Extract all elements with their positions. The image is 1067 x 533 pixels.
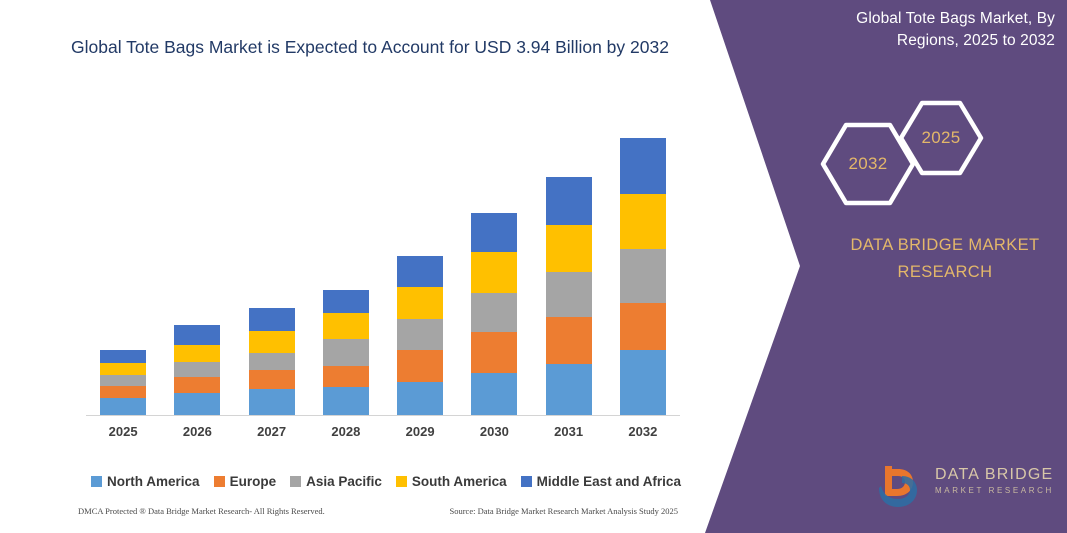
bar-segment [323,387,369,415]
x-axis-label-2027: 2027 [249,424,295,444]
infographic-root: Global Tote Bags Market is Expected to A… [0,0,1067,533]
bar-segment [471,373,517,415]
bar-segment [471,293,517,332]
legend-swatch-icon [290,476,301,487]
bar-segment [546,177,592,225]
x-axis-label-2029: 2029 [397,424,443,444]
logo-line-1: DATA BRIDGE [935,466,1054,484]
legend-swatch-icon [91,476,102,487]
data-bridge-logo: DATA BRIDGE MARKET RESEARCH [875,460,1055,512]
hexagon-group: 2032 2025 [808,100,1008,210]
legend-label: North America [107,474,200,489]
x-axis-line [86,415,680,416]
stacked-bar-group [86,120,680,415]
legend-item[interactable]: Europe [214,474,277,489]
x-axis-label-2031: 2031 [546,424,592,444]
bar-segment [100,398,146,415]
logo-line-2: MARKET RESEARCH [935,484,1054,498]
bar-segment [397,256,443,288]
bar-column [397,120,443,415]
x-axis-label-2030: 2030 [471,424,517,444]
bar-segment [471,332,517,373]
legend-item[interactable]: Asia Pacific [290,474,382,489]
footer: DMCA Protected ® Data Bridge Market Rese… [78,506,678,524]
bar-column [323,120,369,415]
hexagon-2025: 2025 [898,100,984,176]
bar-column [174,120,220,415]
right-purple-panel: Global Tote Bags Market, By Regions, 202… [700,0,1067,533]
bar-segment [620,350,666,415]
bar-segment [546,364,592,415]
bar-segment [100,386,146,399]
chart-plot-area [86,120,680,416]
bar-segment [323,290,369,313]
bar-segment [397,350,443,382]
x-axis-label-2025: 2025 [100,424,146,444]
bar-segment [620,303,666,351]
logo-mark-icon [875,462,929,508]
bar-segment [620,138,666,194]
legend-label: Middle East and Africa [537,474,681,489]
hexagon-2025-label: 2025 [898,128,984,148]
x-axis-labels: 20252026202720282029203020312032 [86,424,680,444]
bar-segment [471,252,517,293]
bar-segment [174,377,220,393]
legend-item[interactable]: Middle East and Africa [521,474,681,489]
bar-segment [397,382,443,415]
bar-segment [174,325,220,345]
panel-title: Global Tote Bags Market, By Regions, 202… [840,8,1055,52]
bar-segment [546,225,592,272]
bar-segment [100,363,146,375]
legend-item[interactable]: South America [396,474,507,489]
brand-name: DATA BRIDGE MARKET RESEARCH [830,232,1060,286]
bar-segment [249,308,295,331]
bar-segment [471,213,517,252]
bar-segment [620,249,666,303]
x-axis-label-2032: 2032 [620,424,666,444]
bar-segment [620,194,666,249]
bar-column [249,120,295,415]
bar-segment [174,393,220,415]
bar-segment [397,287,443,319]
page-title: Global Tote Bags Market is Expected to A… [60,34,680,61]
legend-swatch-icon [396,476,407,487]
legend-swatch-icon [521,476,532,487]
bar-column [471,120,517,415]
x-axis-label-2026: 2026 [174,424,220,444]
legend-item[interactable]: North America [91,474,200,489]
legend-swatch-icon [214,476,225,487]
bar-column [100,120,146,415]
footer-copyright: DMCA Protected ® Data Bridge Market Rese… [78,506,325,524]
bar-segment [323,339,369,366]
bar-segment [546,317,592,363]
bar-segment [323,313,369,339]
legend-label: Asia Pacific [306,474,382,489]
bar-segment [249,331,295,353]
bar-segment [323,366,369,387]
legend-label: Europe [230,474,277,489]
bar-segment [546,272,592,318]
bar-segment [100,375,146,386]
bar-segment [249,389,295,415]
bar-column [620,120,666,415]
bar-segment [100,350,146,363]
x-axis-label-2028: 2028 [323,424,369,444]
chart-legend: North AmericaEuropeAsia PacificSouth Ame… [86,470,686,492]
bar-segment [249,353,295,371]
footer-source: Source: Data Bridge Market Research Mark… [449,506,678,524]
legend-label: South America [412,474,507,489]
bar-segment [174,345,220,363]
bar-segment [174,362,220,377]
bar-segment [249,370,295,389]
logo-text: DATA BRIDGE MARKET RESEARCH [935,466,1054,498]
bar-column [546,120,592,415]
bar-segment [397,319,443,350]
